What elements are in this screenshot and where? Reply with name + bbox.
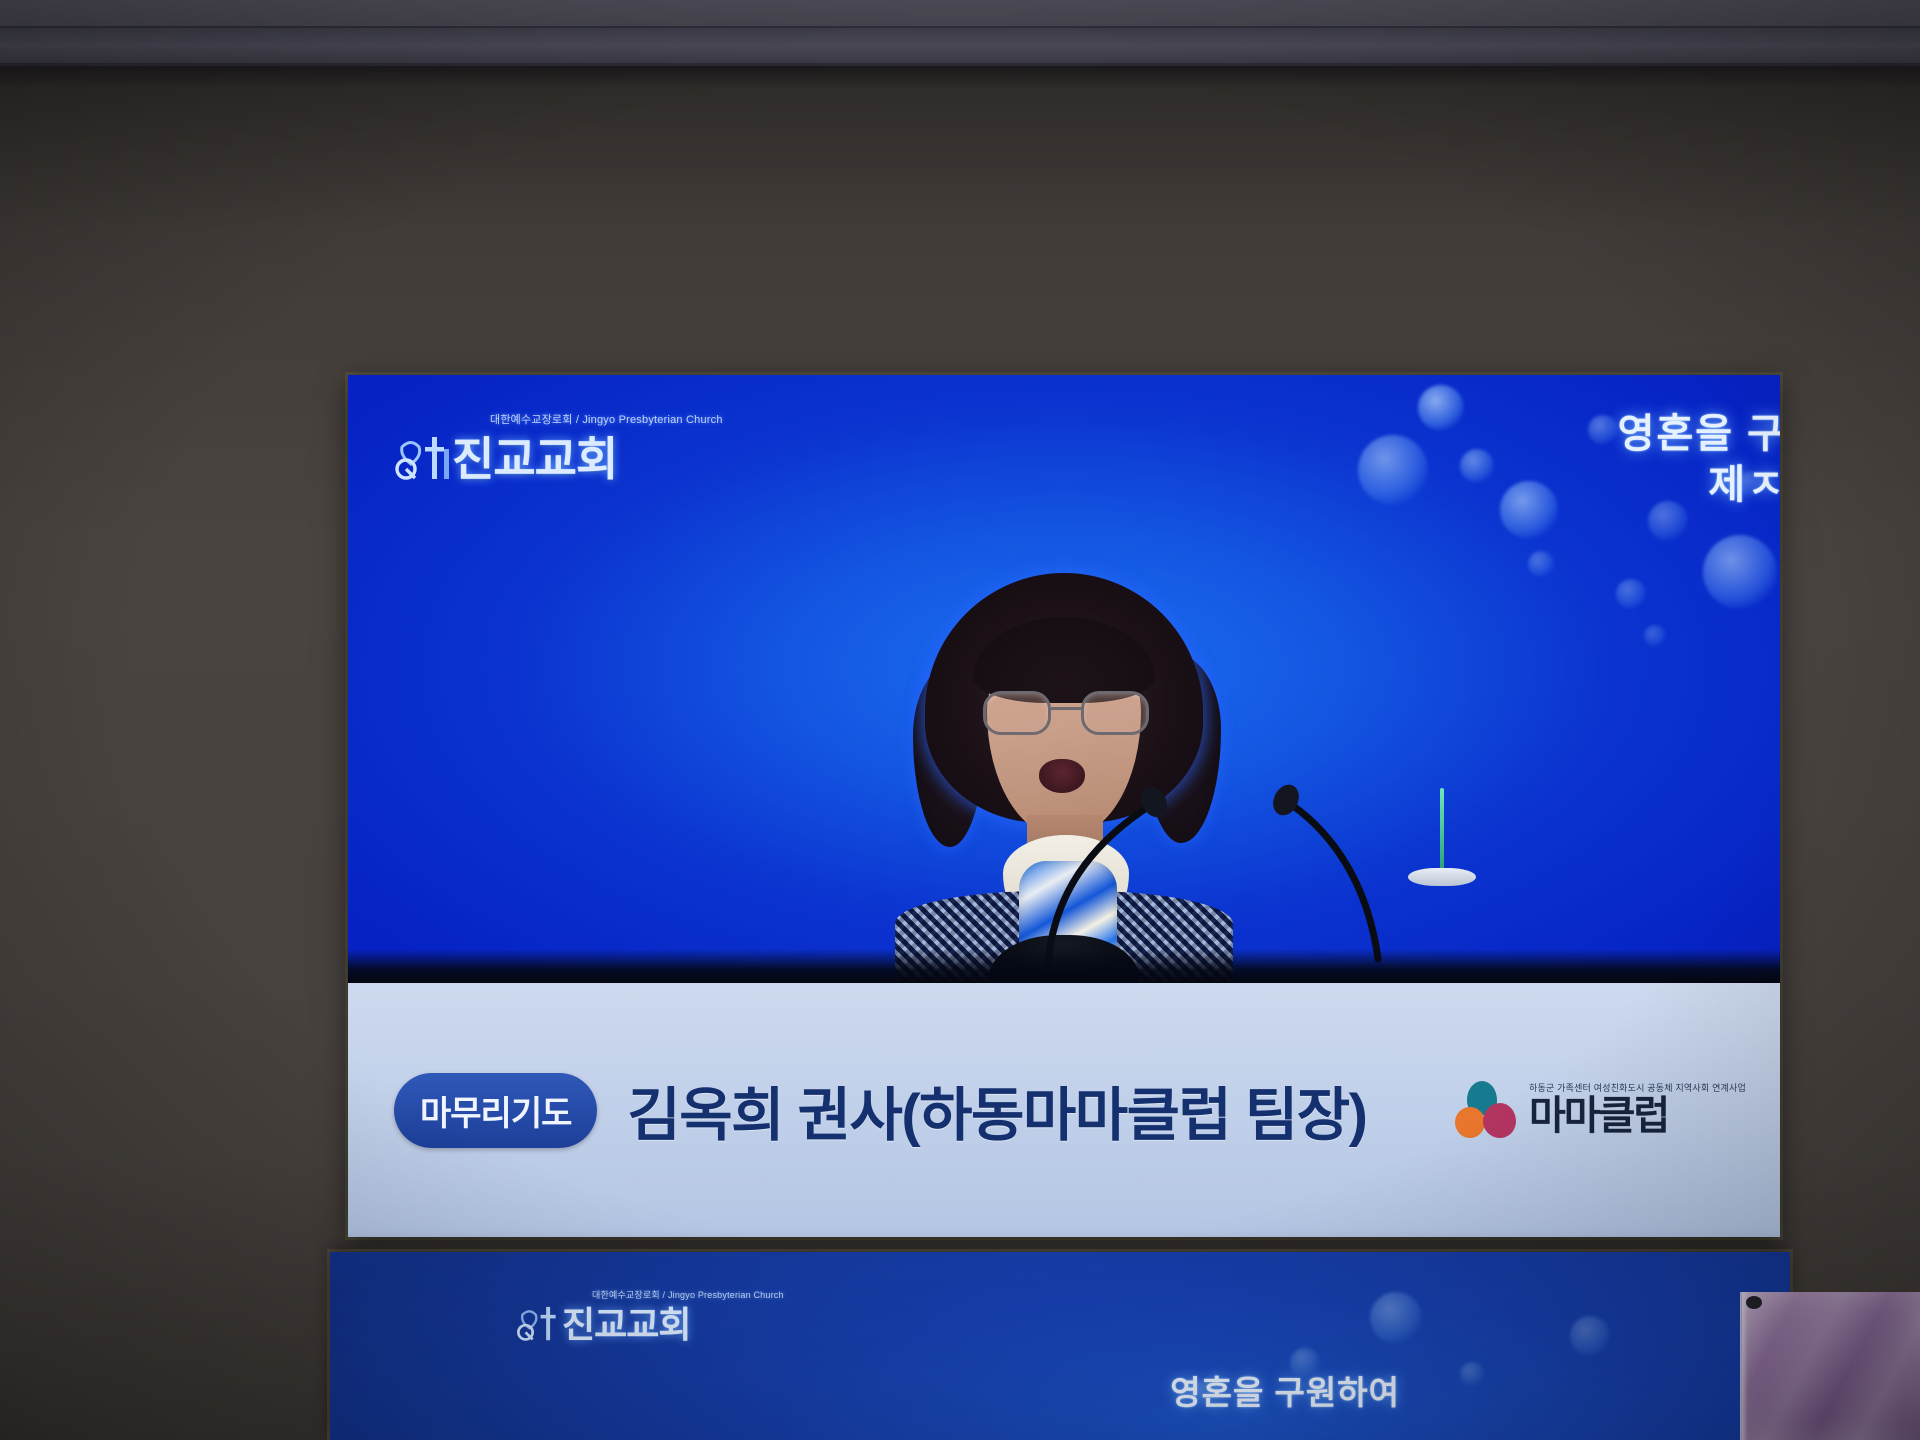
podium-desk-shadow [348,949,1780,983]
plastic-edge [1740,1292,1748,1440]
caption-badge: 마무리기도 [394,1073,597,1148]
plant-base [1408,868,1476,886]
plastic-wrapped-purple-object [1742,1292,1920,1440]
main-led-projection-screen[interactable]: 대한예수교장로회 / Jingyo Presbyterian Church 진교… [348,375,1780,1237]
sponsor-name: 마마클럽 [1529,1096,1746,1136]
caption-speaker-text: 김옥희 권사(하동마마클럽 팀장) [627,1068,1425,1152]
bokeh-light-icon [1570,1316,1610,1356]
cross-and-heart-icon [516,1302,562,1342]
lower-church-logo: 대한예수교장로회 / Jingyo Presbyterian Church 진교… [516,1288,736,1350]
sanctuary-scene: 대한예수교장로회 / Jingyo Presbyterian Church 진교… [0,0,1920,1440]
binder-clip-icon [1746,1296,1762,1309]
green-plant-stem-icon [1440,788,1444,872]
ceiling-ledge [0,26,1920,66]
sponsor-tagline: 하동군 가족센터 여성친화도시 공동체 지역사회 연계사업 [1529,1084,1746,1093]
bokeh-light-icon [1460,1362,1484,1386]
microphone-group [348,375,1780,983]
secondary-led-panel[interactable]: 영혼을 구원하여 대한예수교장로회 / Jingyo Presbyterian … [330,1252,1790,1440]
lower-church-logo-name: 진교교회 [562,1296,690,1348]
sponsor-dots-icon [1455,1081,1517,1139]
sponsor-logo: 하동군 가족센터 여성친화도시 공동체 지역사회 연계사업 마마클럽 [1455,1081,1746,1139]
bokeh-light-icon [1370,1292,1422,1344]
plastic-sheen [1742,1292,1920,1440]
lower-mission-statement: 영혼을 구원하여 [1170,1366,1400,1414]
video-feed-area: 대한예수교장로회 / Jingyo Presbyterian Church 진교… [348,375,1780,983]
caption-bar: 마무리기도 김옥희 권사(하동마마클럽 팀장) 하동군 가족센터 여성친화도시 … [348,983,1780,1237]
ceiling-band [0,0,1920,26]
